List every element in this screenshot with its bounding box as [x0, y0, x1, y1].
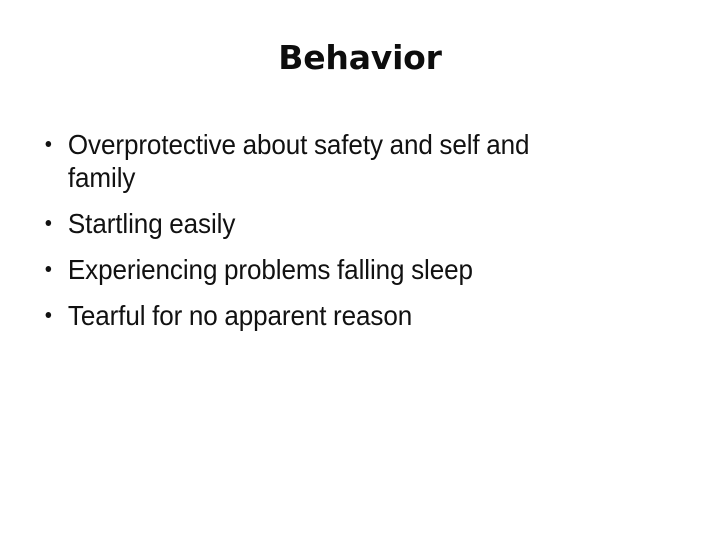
bullet-list: Overprotective about safety and self and… [40, 128, 620, 332]
list-item-label: Overprotective about safety and self and… [68, 128, 580, 194]
list-item[interactable]: Overprotective about safety and self and… [40, 128, 579, 194]
list-item-label: Startling easily [68, 207, 580, 240]
list-item[interactable]: Tearful for no apparent reason [40, 299, 579, 332]
list-item-label: Experiencing problems falling sleep [68, 253, 580, 286]
list-item[interactable]: Experiencing problems falling sleep [40, 253, 579, 286]
list-item[interactable]: Startling easily [40, 207, 579, 240]
bullet-dot-icon [46, 141, 52, 147]
bullet-dot-icon [46, 220, 52, 226]
bullet-dot-icon [46, 266, 52, 272]
bullet-dot-icon [46, 312, 52, 318]
page-title: Behavior [36, 38, 684, 78]
list-item-label: Tearful for no apparent reason [68, 299, 580, 332]
presentation-slide: Behavior Overprotective about safety and… [0, 0, 720, 540]
